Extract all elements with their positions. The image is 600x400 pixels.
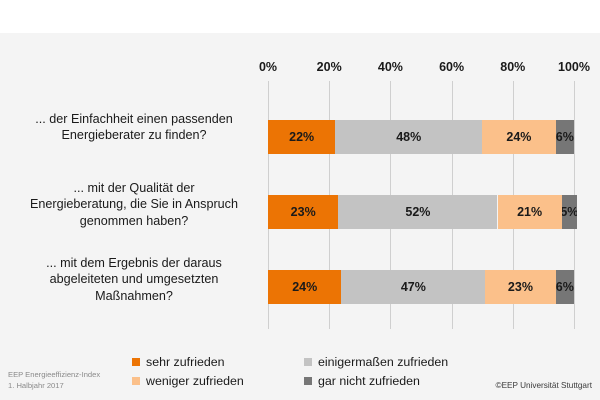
bar-segment: 23%: [268, 195, 338, 229]
legend-label: gar nicht zufrieden: [318, 374, 420, 388]
legend-label: einigermaßen zufrieden: [318, 355, 448, 369]
legend-swatch-icon: [132, 377, 140, 385]
legend-swatch-icon: [304, 358, 312, 366]
category-label-line: ... mit der Qualität der: [8, 180, 260, 196]
legend-swatch-icon: [132, 358, 140, 366]
legend-label: sehr zufrieden: [146, 355, 225, 369]
source-note: EEP Energieeffizienz-Index 1. Halbjahr 2…: [8, 369, 100, 391]
plot-area: 22%48%24%6%23%52%21%5%24%47%23%6%: [268, 81, 574, 329]
category-label: ... der Einfachheit einen passendenEnerg…: [8, 111, 260, 144]
bar-segment: 47%: [341, 270, 485, 304]
chart-card: 0%20%40%60%80%100% 22%48%24%6%23%52%21%5…: [0, 33, 600, 400]
legend-swatch-icon: [304, 377, 312, 385]
source-note-line-1: EEP Energieeffizienz-Index: [8, 369, 100, 380]
bar-row: 23%52%21%5%: [268, 195, 574, 229]
bar-segment: 24%: [268, 270, 341, 304]
category-label-line: abgeleiteten und umgesetzten: [8, 271, 260, 287]
x-axis-tick-label: 40%: [378, 60, 403, 74]
legend-item[interactable]: weniger zufrieden: [132, 374, 304, 388]
legend-item[interactable]: sehr zufrieden: [132, 355, 304, 369]
bar-segment: 6%: [556, 270, 574, 304]
legend-item[interactable]: gar nicht zufrieden: [304, 374, 482, 388]
legend-item[interactable]: einigermaßen zufrieden: [304, 355, 482, 369]
category-label-line: Energieberater zu finden?: [8, 127, 260, 143]
bar-segment: 22%: [268, 120, 335, 154]
category-label: ... mit dem Ergebnis der darausabgeleite…: [8, 255, 260, 304]
bar-segment: 48%: [335, 120, 482, 154]
category-label-line: genommen haben?: [8, 213, 260, 229]
bar-segment: 23%: [485, 270, 555, 304]
category-label-line: ... der Einfachheit einen passenden: [8, 111, 260, 127]
bar-row: 24%47%23%6%: [268, 270, 574, 304]
chart-legend: sehr zufriedeneinigermaßen zufriedenweni…: [132, 355, 482, 388]
bar-segment: 52%: [338, 195, 497, 229]
bar-segment: 5%: [562, 195, 577, 229]
source-note-line-2: 1. Halbjahr 2017: [8, 380, 100, 391]
category-label: ... mit der Qualität derEnergieberatung,…: [8, 180, 260, 229]
legend-label: weniger zufrieden: [146, 374, 244, 388]
x-axis-tick-label: 20%: [317, 60, 342, 74]
bar-segment: 6%: [556, 120, 574, 154]
x-axis-tick-label: 100%: [558, 60, 590, 74]
x-axis-tick-label: 80%: [500, 60, 525, 74]
bar-segment: 21%: [498, 195, 562, 229]
copyright-note: ©EEP Universität Stuttgart: [496, 381, 592, 390]
x-axis-tick-label: 0%: [259, 60, 277, 74]
category-label-line: ... mit dem Ergebnis der daraus: [8, 255, 260, 271]
x-axis-tick-label: 60%: [439, 60, 464, 74]
x-axis-labels: 0%20%40%60%80%100%: [268, 60, 574, 80]
bar-segment: 24%: [482, 120, 555, 154]
bar-row: 22%48%24%6%: [268, 120, 574, 154]
category-label-line: Maßnahmen?: [8, 288, 260, 304]
category-label-line: Energieberatung, die Sie in Anspruch: [8, 196, 260, 212]
